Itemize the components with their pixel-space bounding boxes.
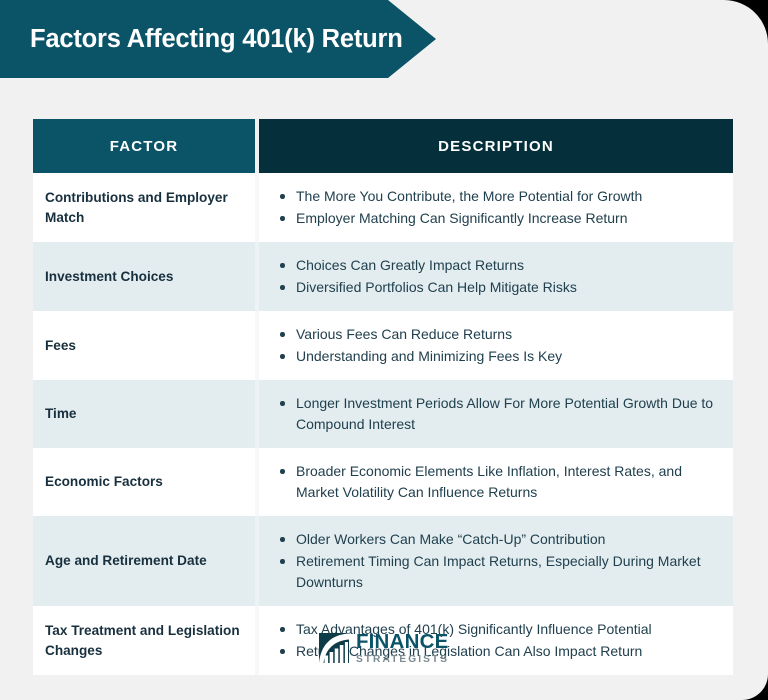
bullet-list: Broader Economic Elements Like Inflation… (279, 461, 721, 503)
infographic-card: Factors Affecting 401(k) Return FACTOR D… (0, 0, 768, 700)
cell-factor: Time (33, 380, 255, 448)
table-row: Contributions and Employer MatchThe More… (33, 173, 733, 242)
bullet-item: Diversified Portfolios Can Help Mitigate… (279, 277, 721, 298)
cell-factor: Investment Choices (33, 242, 255, 311)
bullet-item: Older Workers Can Make “Catch-Up” Contri… (279, 529, 721, 550)
table-header: FACTOR DESCRIPTION (33, 119, 733, 173)
footer-logo[interactable]: FINANCE STRATEGISTS (0, 632, 768, 665)
bullet-list: Longer Investment Periods Allow For More… (279, 393, 721, 435)
table-row: FeesVarious Fees Can Reduce ReturnsUnder… (33, 311, 733, 380)
factors-table-container: FACTOR DESCRIPTION Contributions and Emp… (33, 119, 733, 675)
bullet-list: Older Workers Can Make “Catch-Up” Contri… (279, 529, 721, 593)
cell-description: Various Fees Can Reduce ReturnsUnderstan… (259, 311, 733, 380)
column-header-description: DESCRIPTION (259, 119, 733, 173)
bullet-item: Understanding and Minimizing Fees Is Key (279, 346, 721, 367)
cell-description: Longer Investment Periods Allow For More… (259, 380, 733, 448)
cell-description: The More You Contribute, the More Potent… (259, 173, 733, 242)
cell-factor: Contributions and Employer Match (33, 173, 255, 242)
bullet-item: Various Fees Can Reduce Returns (279, 324, 721, 345)
brand-wordmark: FINANCE STRATEGISTS (356, 632, 449, 665)
table-row: Economic FactorsBroader Economic Element… (33, 448, 733, 516)
cell-factor: Age and Retirement Date (33, 516, 255, 606)
bullet-item: Employer Matching Can Significantly Incr… (279, 208, 721, 229)
bullet-item: Retirement Timing Can Impact Returns, Es… (279, 551, 721, 593)
table-body: Contributions and Employer MatchThe More… (33, 173, 733, 675)
bullet-item: Choices Can Greatly Impact Returns (279, 255, 721, 276)
bullet-item: Broader Economic Elements Like Inflation… (279, 461, 721, 503)
table-header-row: FACTOR DESCRIPTION (33, 119, 733, 173)
cell-factor: Fees (33, 311, 255, 380)
table-row: TimeLonger Investment Periods Allow For … (33, 380, 733, 448)
factors-table: FACTOR DESCRIPTION Contributions and Emp… (33, 119, 733, 675)
bullet-list: Various Fees Can Reduce ReturnsUnderstan… (279, 324, 721, 367)
finance-strategists-chart-mark-icon (319, 633, 349, 663)
cell-description: Broader Economic Elements Like Inflation… (259, 448, 733, 516)
cell-description: Older Workers Can Make “Catch-Up” Contri… (259, 516, 733, 606)
cell-factor: Economic Factors (33, 448, 255, 516)
header-banner: Factors Affecting 401(k) Return (0, 0, 436, 78)
table-row: Investment ChoicesChoices Can Greatly Im… (33, 242, 733, 311)
bullet-item: Longer Investment Periods Allow For More… (279, 393, 721, 435)
cell-description: Choices Can Greatly Impact ReturnsDivers… (259, 242, 733, 311)
column-header-factor: FACTOR (33, 119, 255, 173)
brand-name-secondary: STRATEGISTS (356, 655, 449, 665)
bullet-item: The More You Contribute, the More Potent… (279, 186, 721, 207)
brand-name-primary: FINANCE (356, 632, 449, 653)
page-title: Factors Affecting 401(k) Return (0, 25, 403, 54)
table-row: Age and Retirement DateOlder Workers Can… (33, 516, 733, 606)
bullet-list: The More You Contribute, the More Potent… (279, 186, 721, 229)
bullet-list: Choices Can Greatly Impact ReturnsDivers… (279, 255, 721, 298)
